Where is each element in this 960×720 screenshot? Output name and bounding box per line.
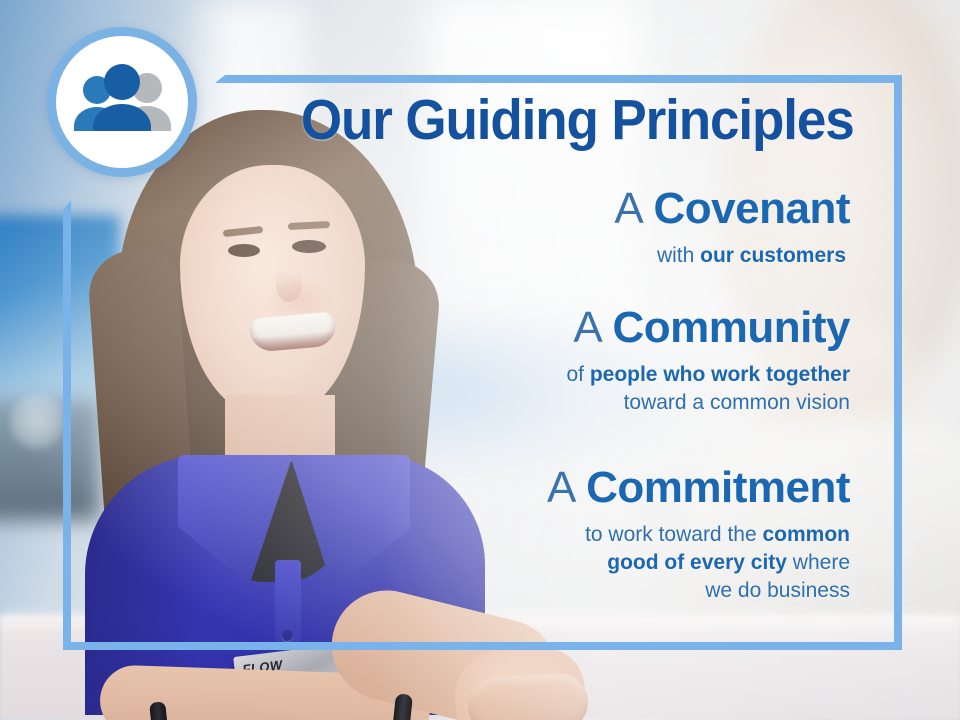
commitment-sub-line1: to work toward the common: [0, 521, 850, 549]
community-sub-line2: toward a common vision: [0, 389, 850, 417]
text-content: Our Guiding Principles A Covenant with o…: [0, 0, 960, 720]
principle-covenant-article: A: [614, 184, 653, 233]
principle-community: A Community of people who work together …: [0, 305, 902, 417]
principle-commitment-heading: A Commitment: [0, 465, 850, 511]
community-sub-line1: of people who work together: [0, 361, 850, 389]
principle-community-keyword: Community: [613, 303, 851, 352]
community-sub-lead: of: [566, 363, 589, 386]
principle-covenant-keyword: Covenant: [654, 184, 850, 233]
covenant-sub-lead: with: [657, 244, 700, 267]
commitment-sub-lead: to work toward the: [585, 523, 762, 546]
principle-covenant-heading: A Covenant: [0, 186, 850, 232]
covenant-sub-bold: our customers: [700, 244, 846, 267]
principle-covenant: A Covenant with our customers: [0, 186, 902, 270]
principle-community-subtitle: of people who work together toward a com…: [0, 361, 850, 416]
commitment-sub-bold-1: common: [762, 523, 850, 546]
principle-commitment: A Commitment to work toward the common g…: [0, 465, 902, 604]
commitment-sub-bold-2: good of every city: [607, 551, 787, 574]
commitment-sub-tail: where: [787, 551, 850, 574]
principle-commitment-subtitle: to work toward the common good of every …: [0, 521, 850, 604]
principle-covenant-subtitle: with our customers: [0, 242, 850, 270]
commitment-sub-line3: we do business: [0, 577, 850, 605]
community-sub-bold: people who work together: [590, 363, 850, 386]
principle-commitment-keyword: Commitment: [586, 463, 850, 512]
principle-community-heading: A Community: [0, 305, 850, 351]
page-title: Our Guiding Principles: [63, 92, 902, 149]
principle-commitment-article: A: [547, 463, 586, 512]
guiding-principles-banner: FLOW FLOW AUTOMOTIVE: [0, 0, 960, 720]
commitment-sub-line2: good of every city where: [0, 549, 850, 577]
principle-community-article: A: [573, 303, 612, 352]
